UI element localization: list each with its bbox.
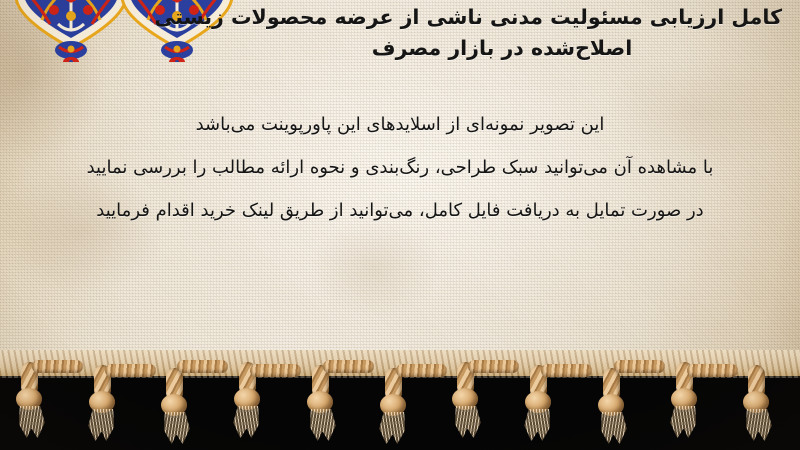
- slide-body: این تصویر نمونه‌ای از اسلایدهای این پاور…: [0, 103, 800, 232]
- fringe-tassel-tail: [14, 406, 46, 438]
- fringe-bridge-cord: [323, 360, 374, 373]
- fringe-knot: [590, 368, 636, 444]
- fringe-bridge-cord: [468, 360, 519, 373]
- fringe-tassel-tail: [159, 412, 191, 444]
- body-line-2: با مشاهده آن می‌توانید سبک طراحی، رنگ‌بن…: [0, 146, 800, 189]
- fringe-bridge-cord: [541, 364, 592, 377]
- fringe-tassel-tail: [741, 409, 773, 441]
- fringe-knot: [735, 365, 781, 441]
- fringe-bridge-cord: [396, 364, 447, 377]
- fringe-tassel-tail: [87, 409, 119, 441]
- title-line-2: اصلاح‌شده در بازار مصرف: [222, 33, 782, 64]
- fringe-tassel-tail: [523, 409, 555, 441]
- fringe-tassel-tail: [450, 406, 482, 438]
- carpet-fringe: [0, 350, 800, 450]
- persian-medallion-icon: [12, 0, 130, 62]
- fringe-knot: [8, 362, 54, 438]
- fringe-bridge-cord: [250, 364, 301, 377]
- fringe-tassel-tail: [596, 412, 628, 444]
- fringe-tassel-tail: [669, 406, 701, 438]
- fringe-bridge-cord: [687, 364, 738, 377]
- fringe-bridge-cord: [177, 360, 228, 373]
- slide-canvas: کامل ارزیابی مسئولیت مدنی ناشی از عرضه م…: [0, 0, 800, 450]
- body-line-1: این تصویر نمونه‌ای از اسلایدهای این پاور…: [0, 103, 800, 146]
- fringe-knot: [372, 368, 418, 444]
- fringe-tassel-tail: [232, 406, 264, 438]
- fringe-knot: [444, 362, 490, 438]
- title-line-1: کامل ارزیابی مسئولیت مدنی ناشی از عرضه م…: [222, 2, 782, 33]
- fringe-tassel-tail: [305, 409, 337, 441]
- fringe-bridge-cord: [105, 364, 156, 377]
- body-line-3: در صورت تمایل به دریافت فایل کامل، می‌تو…: [0, 189, 800, 232]
- fringe-bridge-cord: [32, 360, 83, 373]
- fringe-tassel-tail: [378, 412, 410, 444]
- fringe-knot: [153, 368, 199, 444]
- fringe-knot: [299, 365, 345, 441]
- slide-title: کامل ارزیابی مسئولیت مدنی ناشی از عرضه م…: [222, 2, 782, 64]
- fringe-bridge-cord: [614, 360, 665, 373]
